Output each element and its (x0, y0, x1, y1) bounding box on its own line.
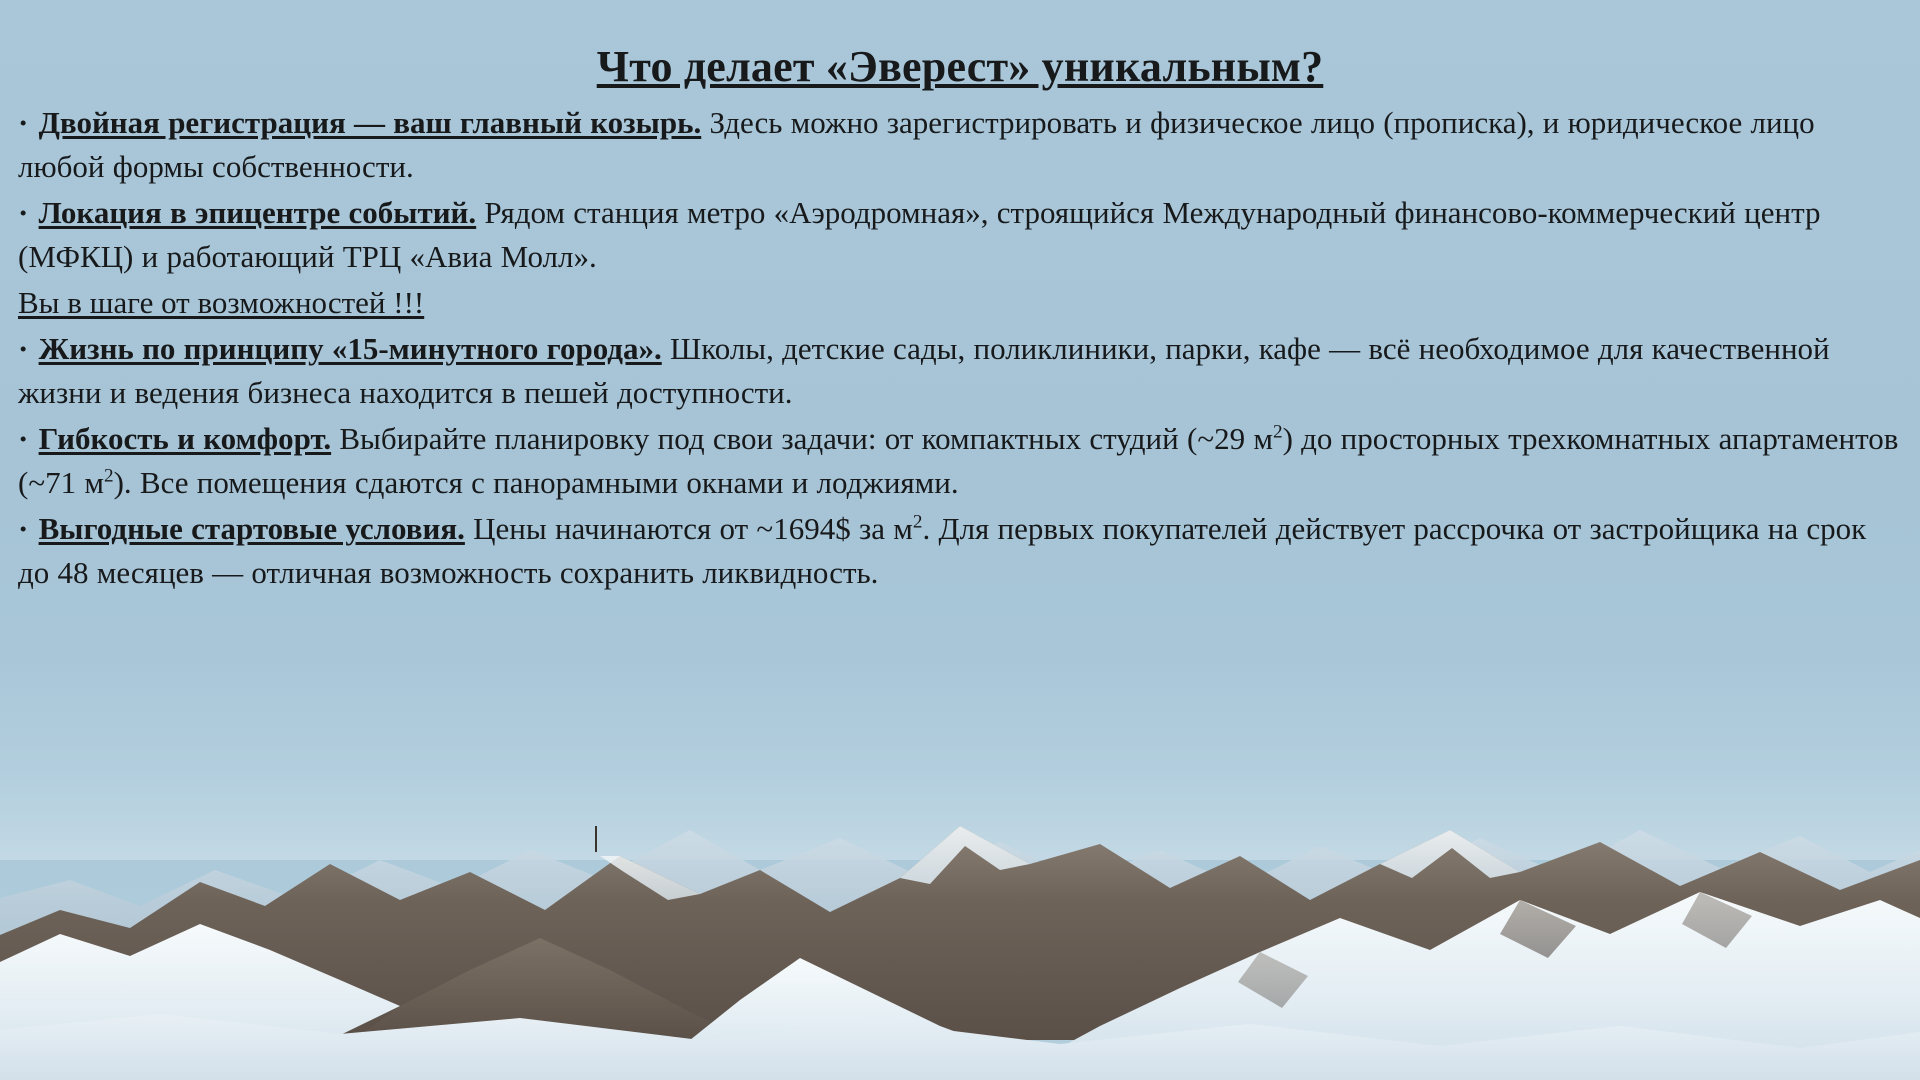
bullet-lead: Локация в эпицентре событий. (39, 195, 477, 230)
mountain-photo-background (0, 660, 1920, 1080)
presentation-slide: Что делает «Эверест» уникальным? · Двойн… (0, 0, 1920, 1080)
list-item: · Локация в эпицентре событий. Рядом ста… (18, 191, 1902, 279)
callout-text: Вы в шаге от возможностей !!! (18, 285, 424, 320)
bullet-marker: · (18, 421, 30, 456)
list-item: · Выгодные стартовые условия. Цены начин… (18, 507, 1902, 595)
bullet-marker: · (18, 511, 30, 546)
slide-content: Что делает «Эверест» уникальным? · Двойн… (0, 0, 1920, 597)
callout-line: Вы в шаге от возможностей !!! (18, 281, 1902, 325)
list-item: · Двойная регистрация — ваш главный козы… (18, 101, 1902, 189)
bullet-lead: Гибкость и комфорт. (39, 421, 332, 456)
bullet-marker: · (18, 195, 30, 230)
bullet-list: · Двойная регистрация — ваш главный козы… (18, 101, 1902, 595)
bullet-lead: Двойная регистрация — ваш главный козырь… (39, 105, 702, 140)
page-title-text: Что делает «Эверест» уникальным? (597, 42, 1324, 91)
foreground-snowfield (0, 960, 1920, 1080)
list-item: · Гибкость и комфорт. Выбирайте планиров… (18, 417, 1902, 505)
bullet-marker: · (18, 105, 30, 140)
bullet-lead: Жизнь по принципу «15-минутного города». (39, 331, 662, 366)
bullet-lead: Выгодные стартовые условия. (39, 511, 465, 546)
page-title: Что делает «Эверест» уникальным? (18, 42, 1902, 91)
summit-pole (595, 826, 597, 852)
bullet-marker: · (18, 331, 30, 366)
list-item: · Жизнь по принципу «15-минутного города… (18, 327, 1902, 415)
